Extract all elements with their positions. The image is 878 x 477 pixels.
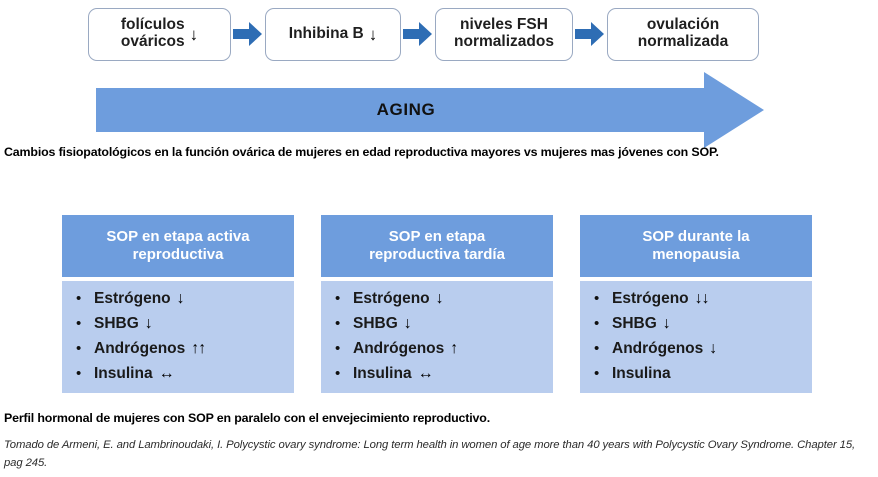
bullet-icon: • <box>594 316 606 331</box>
flow-box-follicles: folículos ováricos ↓ <box>88 8 231 61</box>
list-item-label: Andrógenos <box>353 340 444 358</box>
list-item: • SHBG ↓ <box>335 315 553 340</box>
trend-arrow-icon: ↓ <box>436 290 443 308</box>
bullet-icon: • <box>594 366 606 381</box>
citation-text: Tomado de Armeni, E. and Lambrinoudaki, … <box>4 437 870 472</box>
caption-top: Cambios fisiopatológicos en la función o… <box>4 145 874 159</box>
bullet-icon: • <box>594 341 606 356</box>
aging-banner: AGING <box>96 72 764 148</box>
trend-arrow-icon: ↓ <box>145 315 152 333</box>
list-item-label: SHBG <box>94 315 139 333</box>
list-item: • Andrógenos ↓ <box>594 340 812 365</box>
list-item: • Insulina <box>594 365 812 390</box>
flow-box-ovulation-label: ovulación normalizada <box>638 17 728 50</box>
flow-connector-3 <box>573 19 607 49</box>
trend-arrow-icon: ↓↓ <box>695 290 709 308</box>
list-item-label: Andrógenos <box>612 340 703 358</box>
trend-arrow-icon: ↑ <box>450 340 457 358</box>
down-arrow-icon: ↓ <box>190 26 199 43</box>
list-item-label: Estrógeno <box>94 290 171 308</box>
trend-arrow-icon: ↓ <box>663 315 670 333</box>
list-item-label: Estrógeno <box>612 290 689 308</box>
flow-diagram-row: folículos ováricos ↓ Inhibina B ↓ nivele… <box>88 5 788 63</box>
down-arrow-icon: ↓ <box>369 26 378 43</box>
flow-box-ovulation: ovulación normalizada <box>607 8 759 61</box>
list-item: • SHBG ↓ <box>76 315 294 340</box>
bullet-icon: • <box>76 341 88 356</box>
trend-arrow-icon: ↓ <box>709 340 716 358</box>
flow-box-fsh-levels: niveles FSH normalizados <box>435 8 573 61</box>
list-item: • Estrógeno ↓ <box>76 290 294 315</box>
flow-box-follicles-label: folículos ováricos <box>121 17 185 50</box>
list-item-label: SHBG <box>353 315 398 333</box>
panel-menopause: SOP durante la menopausia • Estrógeno ↓↓… <box>580 215 812 393</box>
bullet-icon: • <box>335 366 347 381</box>
flow-box-inhibin-b: Inhibina B ↓ <box>265 8 401 61</box>
list-item: • Andrógenos ↑↑ <box>76 340 294 365</box>
panel-header: SOP en etapa activa reproductiva <box>62 215 294 277</box>
caption-bottom: Perfil hormonal de mujeres con SOP en pa… <box>4 411 874 425</box>
aging-label: AGING <box>96 72 716 148</box>
bullet-icon: • <box>335 291 347 306</box>
trend-arrow-icon: ↓ <box>404 315 411 333</box>
bullet-icon: • <box>594 291 606 306</box>
panel-body: • Estrógeno ↓ • SHBG ↓ • Andrógenos ↑↑ •… <box>62 281 294 393</box>
panel-active-reproductive: SOP en etapa activa reproductiva • Estró… <box>62 215 294 393</box>
list-item: • Andrógenos ↑ <box>335 340 553 365</box>
trend-arrow-icon: ↑↑ <box>191 340 205 358</box>
panel-body: • Estrógeno ↓↓ • SHBG ↓ • Andrógenos ↓ •… <box>580 281 812 393</box>
panel-title: SOP en etapa reproductiva tardía <box>369 228 505 263</box>
bullet-icon: • <box>76 366 88 381</box>
panel-title: SOP durante la menopausia <box>642 228 749 263</box>
list-item: • Estrógeno ↓↓ <box>594 290 812 315</box>
list-item-label: SHBG <box>612 315 657 333</box>
panel-body: • Estrógeno ↓ • SHBG ↓ • Andrógenos ↑ • … <box>321 281 553 393</box>
bullet-icon: • <box>76 316 88 331</box>
bullet-icon: • <box>335 316 347 331</box>
panel-header: SOP durante la menopausia <box>580 215 812 277</box>
bullet-icon: • <box>76 291 88 306</box>
flow-box-inhibin-b-label: Inhibina B <box>289 26 364 43</box>
trend-arrow-icon: ↓ <box>177 290 184 308</box>
panel-late-reproductive: SOP en etapa reproductiva tardía • Estró… <box>321 215 553 393</box>
list-item: • Insulina ↔ <box>76 365 294 390</box>
list-item-label: Insulina <box>612 365 671 383</box>
right-arrow-icon <box>403 21 433 47</box>
flow-connector-2 <box>401 19 435 49</box>
hormone-profile-panels: SOP en etapa activa reproductiva • Estró… <box>62 215 812 395</box>
list-item: • SHBG ↓ <box>594 315 812 340</box>
list-item-label: Insulina <box>94 365 153 383</box>
bullet-icon: • <box>335 341 347 356</box>
list-item: • Insulina ↔ <box>335 365 553 390</box>
right-arrow-icon <box>233 21 263 47</box>
list-item: • Estrógeno ↓ <box>335 290 553 315</box>
flow-connector-1 <box>231 19 265 49</box>
trend-arrow-icon: ↔ <box>159 365 174 383</box>
right-arrow-icon <box>575 21 605 47</box>
flow-box-fsh-levels-label: niveles FSH normalizados <box>454 17 554 50</box>
trend-arrow-icon: ↔ <box>418 365 433 383</box>
list-item-label: Andrógenos <box>94 340 185 358</box>
list-item-label: Estrógeno <box>353 290 430 308</box>
panel-title: SOP en etapa activa reproductiva <box>106 228 249 263</box>
panel-header: SOP en etapa reproductiva tardía <box>321 215 553 277</box>
list-item-label: Insulina <box>353 365 412 383</box>
